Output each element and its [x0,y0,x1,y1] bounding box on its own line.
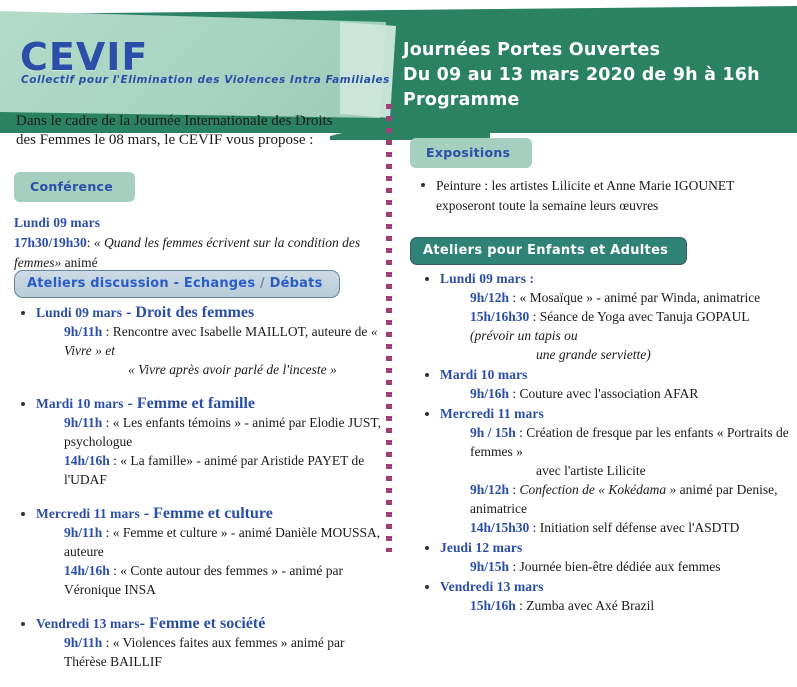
schedule-description: Initiation self défense avec l'ASDTD [540,520,740,535]
schedule-entry: 9h/12h : Confection de « Kokédama » anim… [440,480,790,518]
list-item: Mardi 10 mars9h/16h : Couture avec l'ass… [418,366,790,403]
schedule-entry: 15h/16h30 : Séance de Yoga avec Tanuja G… [440,307,790,345]
schedule-day-heading: Mercredi 11 mars [440,405,790,423]
schedule-entry: 9h/11h : Rencontre avec Isabelle MAILLOT… [36,322,386,360]
schedule-day: Mardi 10 mars [440,367,528,382]
schedule-description: avec l'artiste Lilicite [536,463,646,478]
schedule-description-italic: une grande serviette) [536,347,651,362]
schedule-day-heading: Mardi 10 mars - Femme et famille [36,395,386,413]
schedule-separator: : [110,453,121,468]
schedule-day: Mardi 10 mars [36,396,124,411]
conference-day: Lundi 09 mars [14,214,100,232]
schedule-entry: 9h/11h : « Violences faites aux femmes »… [36,633,386,671]
schedule-entry: 9h / 15h : Création de fresque par les e… [440,423,790,461]
schedule-description-italic: Confection de « Kokédama » [520,482,677,497]
schedule-separator: : [509,290,520,305]
schedule-entry: 9h/15h : Journée bien-être dédiée aux fe… [440,557,790,576]
schedule-day: Vendredi 13 mars [36,616,140,631]
schedule-description-italic: « Vivre après avoir parlé de l'inceste » [128,362,337,377]
conference-animator-prefix: animé [61,255,97,270]
intro-paragraph: Dans le cadre de la Journée Internationa… [16,112,356,149]
expositions-list: Peinture : les artistes Lilicite et Anne… [414,176,789,216]
list-item: Jeudi 12 mars9h/15h : Journée bien-être … [418,539,790,576]
schedule-day-theme: - Femme et société [140,615,266,632]
list-item: Mercredi 11 mars9h / 15h : Création de f… [418,405,790,537]
schedule-day: Lundi 09 mars [36,305,122,320]
schedule-description: Séance de Yoga avec Tanuja GOPAUL [540,309,749,324]
schedule-day-heading: Mardi 10 mars [440,366,790,384]
schedule-entry: 14h/16h : « Conte autour des femmes » - … [36,561,386,599]
organization-logo-title: CEVIF [20,35,148,79]
schedule-day: Jeudi 12 mars [440,540,522,555]
schedule-day-theme: - Femme et culture [140,505,273,522]
conference-badge: Conférence [14,172,135,202]
schedule-description-italic: (prévoir un tapis ou [470,328,578,343]
event-title-line-1: Journées Portes Ouvertes [403,38,783,63]
schedule-time: 9h/11h [64,324,102,339]
schedule-entry: 14h/16h : « La famille» - animé par Aris… [36,451,386,489]
schedule-description: Journée bien-être dédiée aux femmes [520,559,721,574]
schedule-time: 15h/16h [470,598,516,613]
schedule-separator: : [529,309,540,324]
event-title-block: Journées Portes Ouvertes Du 09 au 13 mar… [403,38,783,113]
event-title-line-3: Programme [403,88,783,113]
schedule-separator: : [102,415,113,430]
ateliers-enfants-section: Ateliers pour Enfants et Adultes [410,237,687,265]
schedule-time: 15h/16h30 [470,309,529,324]
list-item: Lundi 09 mars :9h/12h : « Mosaïque » - a… [418,270,790,364]
schedule-entry: « Vivre après avoir parlé de l'inceste » [36,360,386,379]
schedule-entry: 9h/16h : Couture avec l'association AFAR [440,384,790,403]
schedule-day-heading: Lundi 09 mars - Droit des femmes [36,304,386,322]
ateliers-discussion-badge-part2: Débats [270,276,323,291]
schedule-entry: avec l'artiste Lilicite [440,461,790,480]
list-item: Mardi 10 mars - Femme et famille9h/11h :… [14,395,386,489]
schedule-separator: : [102,324,113,339]
schedule-separator: : [509,482,520,497]
schedule-time: 9h/11h [64,525,102,540]
ateliers-discussion-badge: Ateliers discussion - Echanges / Débats [14,270,340,298]
left-column: Dans le cadre de la Journée Internationa… [0,112,386,554]
schedule-entry: 9h/11h : « Les enfants témoins » - animé… [36,413,386,451]
event-title-line-2: Du 09 au 13 mars 2020 de 9h à 16h [403,63,783,88]
expositions-badge: Expositions [410,138,532,168]
schedule-separator: : [110,563,121,578]
schedule-separator: : [516,598,527,613]
schedule-time: 9h/11h [64,635,102,650]
schedule-separator: : [102,635,113,650]
ateliers-discussion-badge-sep: / [255,276,269,291]
schedule-day-heading: Vendredi 13 mars [440,578,790,596]
schedule-time: 14h/16h [64,453,110,468]
schedule-day: Vendredi 13 mars [440,579,544,594]
schedule-description: Zumba avec Axé Brazil [526,598,654,613]
schedule-entry: une grande serviette) [440,345,790,364]
schedule-separator: : [509,559,520,574]
schedule-separator: : [529,520,540,535]
ateliers-discussion-badge-part1: Ateliers discussion - Echanges [27,276,255,291]
schedule-entry: 14h/15h30 : Initiation self défense avec… [440,518,790,537]
list-item: Mercredi 11 mars - Femme et culture9h/11… [14,505,386,599]
ateliers-enfants-badge: Ateliers pour Enfants et Adultes [410,237,687,265]
schedule-time: 9h/11h [64,415,102,430]
conference-section: Conférence [14,172,135,202]
ateliers-enfants-list: Lundi 09 mars :9h/12h : « Mosaïque » - a… [418,270,790,617]
schedule-time: 9h/12h [470,482,509,497]
schedule-time: 9h/12h [470,290,509,305]
schedule-description: « Mosaïque » - animé par Winda, animatri… [520,290,761,305]
right-column: Expositions Peinture : les artistes Lili… [396,136,797,554]
list-item: Vendredi 13 mars- Femme et société9h/11h… [14,615,386,671]
list-item: Lundi 09 mars - Droit des femmes9h/11h :… [14,304,386,379]
schedule-day: Mercredi 11 mars [440,406,544,421]
schedule-day: Lundi 09 mars : [440,271,534,286]
ateliers-discussion-section: Ateliers discussion - Echanges / Débats [14,270,340,298]
schedule-day: Mercredi 11 mars [36,506,140,521]
schedule-description: Couture avec l'association AFAR [520,386,699,401]
conference-day-label: Lundi 09 mars [14,215,100,230]
schedule-day-heading: Lundi 09 mars : [440,270,790,288]
schedule-separator: : [509,386,520,401]
schedule-time: 9h/15h [470,559,509,574]
schedule-time: 14h/15h30 [470,520,529,535]
dotted-column-divider [386,104,392,552]
exposition-text: Peinture : les artistes Lilicite et Anne… [436,176,789,216]
schedule-day-heading: Mercredi 11 mars - Femme et culture [36,505,386,523]
schedule-time: 9h/16h [470,386,509,401]
schedule-entry: 15h/16h : Zumba avec Axé Brazil [440,596,790,615]
schedule-day-theme: - Femme et famille [124,395,255,412]
schedule-separator: : [516,425,527,440]
organization-tagline: Collectif pour l'Elimination des Violenc… [21,74,390,86]
expositions-section: Expositions [410,138,532,168]
schedule-day-theme: - Droit des femmes [122,304,254,321]
schedule-entry: 9h/11h : « Femme et culture » - animé Da… [36,523,386,561]
schedule-day-heading: Jeudi 12 mars [440,539,790,557]
schedule-description: Rencontre avec Isabelle MAILLOT, auteure… [113,324,371,339]
conference-time: 17h30/19h30 [14,235,87,250]
schedule-time: 14h/16h [64,563,110,578]
schedule-entry: 9h/12h : « Mosaïque » - animé par Winda,… [440,288,790,307]
ateliers-discussion-list: Lundi 09 mars - Droit des femmes9h/11h :… [14,304,386,687]
schedule-day-heading: Vendredi 13 mars- Femme et société [36,615,386,633]
list-item: Peinture : les artistes Lilicite et Anne… [414,176,789,216]
schedule-time: 9h / 15h [470,425,516,440]
schedule-separator: : [102,525,113,540]
list-item: Vendredi 13 mars15h/16h : Zumba avec Axé… [418,578,790,615]
